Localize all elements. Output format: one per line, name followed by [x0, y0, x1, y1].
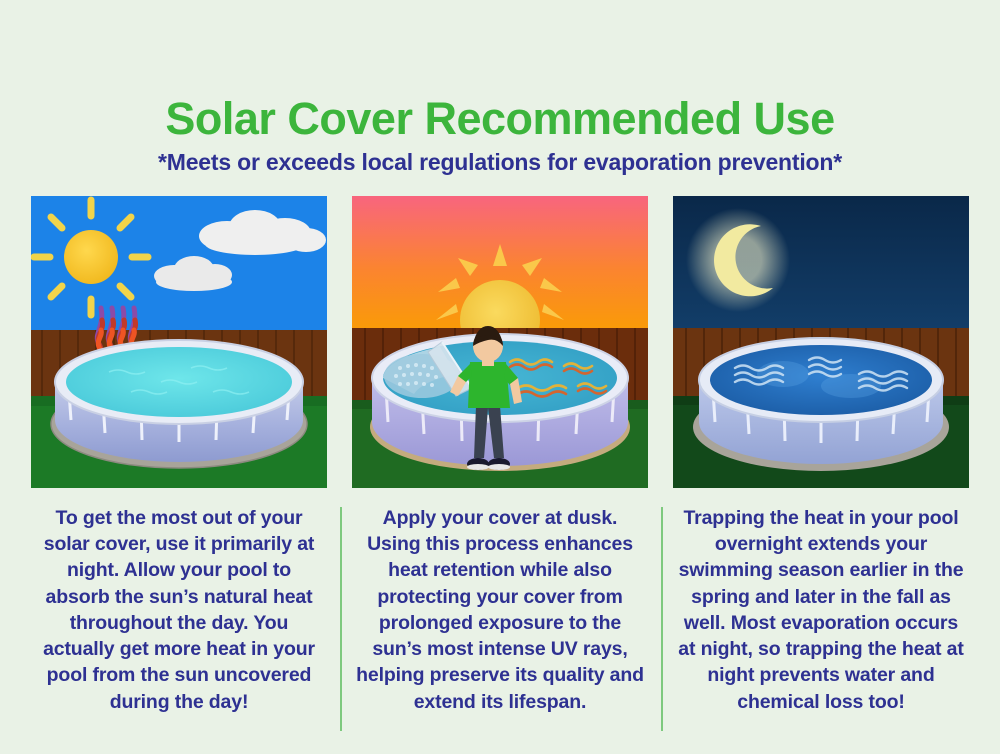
caption-column-dusk: Apply your cover at dusk. Using this pro…: [352, 505, 648, 715]
illustration-panels: [31, 196, 969, 488]
page-title: Solar Cover Recommended Use: [0, 96, 1000, 141]
caption-divider-2: [661, 507, 663, 731]
daytime-pool-illustration: [31, 196, 327, 488]
caption-column-daytime: To get the most out of your solar cover,…: [31, 505, 327, 715]
night-pool-illustration: [673, 196, 969, 488]
caption-text-night: Trapping the heat in your pool overnight…: [673, 505, 969, 715]
header: Solar Cover Recommended Use *Meets or ex…: [0, 0, 1000, 174]
person-shirt: [468, 362, 510, 408]
sun-icon: [34, 200, 148, 315]
moon-icon: [686, 208, 790, 312]
panel-dusk: [352, 196, 648, 488]
caption-text-dusk: Apply your cover at dusk. Using this pro…: [352, 505, 648, 715]
caption-column-night: Trapping the heat in your pool overnight…: [673, 505, 969, 715]
caption-row: To get the most out of your solar cover,…: [31, 505, 969, 715]
caption-divider-1: [340, 507, 342, 731]
page-subtitle: *Meets or exceeds local regulations for …: [0, 151, 1000, 174]
caption-text-daytime: To get the most out of your solar cover,…: [31, 505, 327, 715]
panel-daytime: [31, 196, 327, 488]
panel-night: [673, 196, 969, 488]
dusk-pool-illustration: [352, 196, 648, 488]
